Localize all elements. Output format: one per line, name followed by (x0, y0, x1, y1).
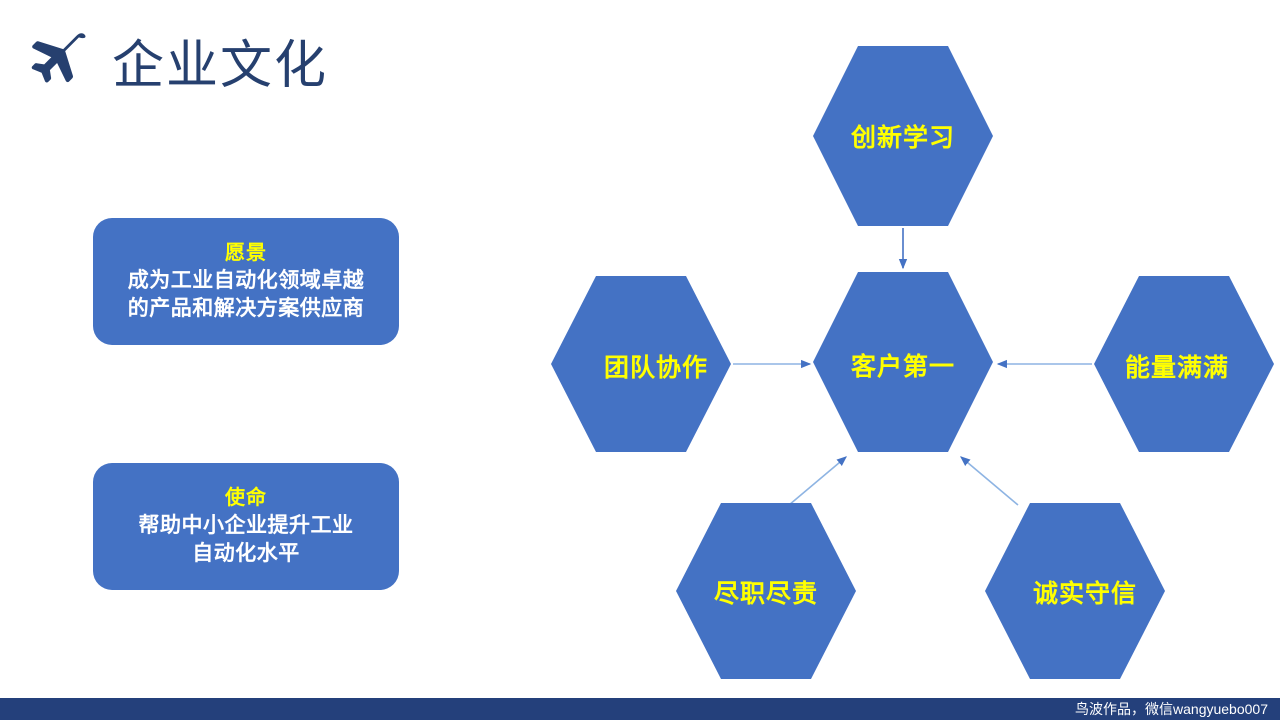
slide-canvas: 企业文化 愿景 成为工业自动化领域卓越 的产品和解决方案供应商 使命 帮助中小企… (0, 0, 1280, 720)
hex-label-left: 团队协作 (566, 348, 746, 384)
connector-bottom-right (961, 457, 1018, 505)
hex-label-bottom-left: 尽职尽责 (676, 574, 856, 610)
footer-bar: 鸟波作品，微信wangyuebo007 (0, 698, 1280, 720)
hex-label-center: 客户第一 (813, 347, 993, 383)
hexagon-diagram: 创新学习 团队协作 能量满满 尽职尽责 诚实守信 客户第一 (0, 0, 1280, 700)
footer-credit: 鸟波作品，微信wangyuebo007 (1075, 698, 1268, 720)
hex-label-right: 能量满满 (1087, 348, 1267, 384)
connector-bottom-left (789, 457, 846, 505)
hex-label-bottom-right: 诚实守信 (995, 574, 1175, 610)
hex-label-top: 创新学习 (813, 118, 993, 154)
